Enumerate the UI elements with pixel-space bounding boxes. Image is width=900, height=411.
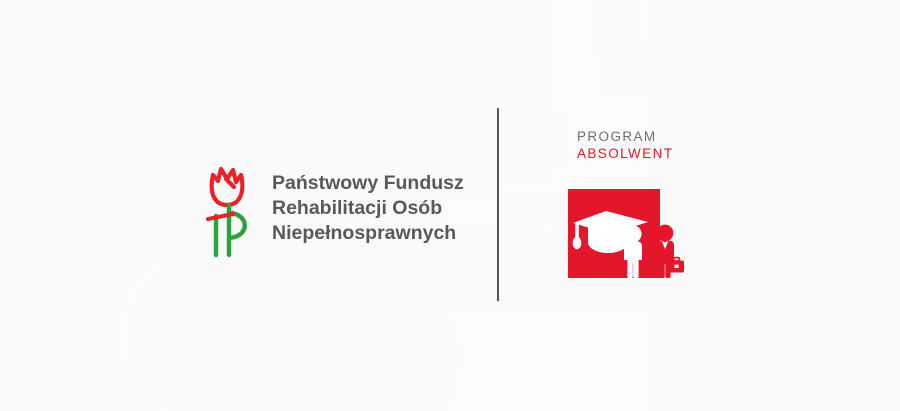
pfron-name-line-1: Państwowy Fundusz [272, 171, 464, 196]
pfron-tulip-logo-icon [204, 158, 258, 258]
pfron-logo-wordmark: Państwowy Fundusz Rehabilitacji Osób Nie… [272, 171, 464, 246]
program-kicker: PROGRAM [577, 128, 673, 145]
pfron-logo-lockup[interactable]: Państwowy Fundusz Rehabilitacji Osób Nie… [204, 158, 464, 258]
graduation-cap-and-graduates-icon [568, 189, 684, 278]
pfron-absolwent-banner: TESSCO [0, 0, 900, 411]
pfron-name-line-3: Niepełnosprawnych [272, 221, 464, 246]
program-name: ABSOLWENT [577, 145, 673, 162]
vertical-divider [497, 108, 499, 301]
program-title-block: PROGRAM ABSOLWENT [577, 128, 673, 162]
banner-content: Państwowy Fundusz Rehabilitacji Osób Nie… [0, 0, 900, 411]
pfron-name-line-2: Rehabilitacji Osób [272, 196, 464, 221]
